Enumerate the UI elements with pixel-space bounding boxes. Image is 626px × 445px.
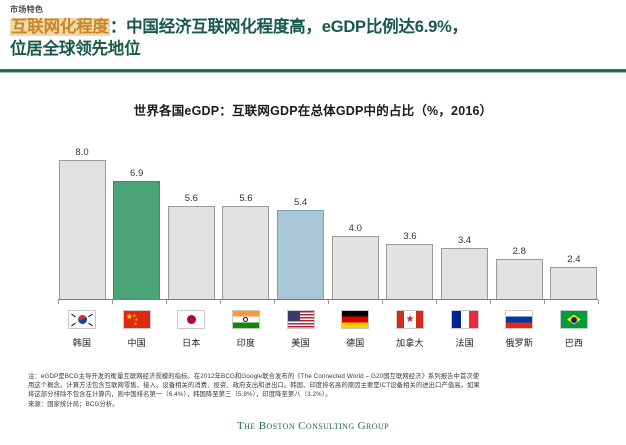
bar-slot-ca: 3.6 xyxy=(386,136,434,299)
in-chakra xyxy=(243,317,248,322)
ca-maple-leaf: ★ xyxy=(405,315,414,325)
axis-tick xyxy=(274,300,275,304)
x-axis-ticks xyxy=(58,300,598,304)
bar-value-label: 5.6 xyxy=(239,193,252,204)
headline-rest: ：中国经济互联网化程度高，eGDP比例达6.9%， xyxy=(110,18,468,36)
eyebrow-label: 市场特色 xyxy=(10,4,616,15)
bar-value-label: 2.4 xyxy=(567,254,580,265)
category-label: 法国 xyxy=(455,336,473,349)
category-ru: 俄罗斯 xyxy=(495,310,543,360)
category-label: 中国 xyxy=(127,336,145,349)
bar-slot-cn: 6.9 xyxy=(113,136,161,299)
axis-tick xyxy=(436,300,437,304)
flag-br-icon xyxy=(560,310,588,329)
category-label: 巴西 xyxy=(565,336,583,349)
footnote: 注：eGDP是BCG主导开发的衡量互联网经济规模的指标。在2012年BCG和Go… xyxy=(28,372,604,409)
category-us: 美国 xyxy=(277,310,325,360)
cn-small-star: ★ xyxy=(134,320,138,327)
footnote-line-1: 注：eGDP是BCG主导开发的衡量互联网经济规模的指标。在2012年BCG和Go… xyxy=(28,372,604,381)
category-label: 印度 xyxy=(237,336,255,349)
category-label: 韩国 xyxy=(73,336,91,349)
bar-cn xyxy=(113,181,160,299)
flag-jp-icon xyxy=(177,310,205,329)
flag-kr-icon xyxy=(68,310,96,329)
flag-fr-icon xyxy=(451,310,479,329)
category-fr: 法国 xyxy=(441,310,489,360)
bar-in xyxy=(222,206,269,299)
kr-trigram xyxy=(71,323,76,327)
flag-cn-icon: ★★★★ xyxy=(123,310,151,329)
category-in: 印度 xyxy=(222,310,270,360)
category-label: 俄罗斯 xyxy=(505,336,533,349)
bar-slot-de: 4.0 xyxy=(331,136,379,299)
footnote-line-3: 将这部分排除不包含在计算内，则中国排名第一（6.4%），韩国降至第三（5.8%）… xyxy=(28,390,604,399)
bar-slot-ru: 2.8 xyxy=(495,136,543,299)
axis-tick xyxy=(112,300,113,304)
slide-header: 市场特色 互联网化程度：中国经济互联网化程度高，eGDP比例达6.9%， 位居全… xyxy=(0,0,626,70)
page-title: 互联网化程度：中国经济互联网化程度高，eGDP比例达6.9%， 位居全球领先地位 xyxy=(10,16,616,60)
bcg-logo: The Boston Consulting Group xyxy=(0,420,626,432)
bar-de xyxy=(332,236,379,299)
header-divider xyxy=(0,69,626,73)
category-label: 加拿大 xyxy=(396,336,424,349)
flag-us-icon xyxy=(287,310,315,329)
flag-de-icon xyxy=(341,310,369,329)
kr-trigram xyxy=(88,314,93,318)
bar-series: 8.06.95.65.65.44.03.63.42.82.4 xyxy=(58,136,598,299)
axis-tick xyxy=(544,300,545,304)
bar-value-label: 8.0 xyxy=(75,147,88,158)
chart-title: 世界各国eGDP：互联网GDP在总体GDP中的占比（%，2016） xyxy=(0,100,626,119)
kr-trigram xyxy=(71,314,76,318)
category-br: 巴西 xyxy=(550,310,598,360)
axis-tick xyxy=(166,300,167,304)
category-label: 德国 xyxy=(346,336,364,349)
category-axis: 韩国★★★★中国日本印度美国德国★加拿大法国俄罗斯巴西 xyxy=(58,310,598,360)
bar-value-label: 4.0 xyxy=(349,223,362,234)
axis-tick xyxy=(382,300,383,304)
bar-slot-br: 2.4 xyxy=(550,136,598,299)
jp-sun-disc xyxy=(187,315,196,324)
flag-ru-icon xyxy=(505,310,533,329)
axis-tick xyxy=(58,300,59,304)
slide-canvas: 市场特色 互联网化程度：中国经济互联网化程度高，eGDP比例达6.9%， 位居全… xyxy=(0,0,626,445)
ca-left-band xyxy=(397,311,404,328)
flag-in-icon xyxy=(232,310,260,329)
chart-plot-area: 8.06.95.65.65.44.03.63.42.82.4 xyxy=(58,136,598,299)
headline-line2: 位居全球领先地位 xyxy=(10,40,140,58)
category-cn: ★★★★中国 xyxy=(113,310,161,360)
category-ca: ★加拿大 xyxy=(386,310,434,360)
bar-slot-us: 5.4 xyxy=(277,136,325,299)
category-label: 日本 xyxy=(182,336,200,349)
category-label: 美国 xyxy=(291,336,309,349)
axis-tick xyxy=(598,300,599,304)
bar-slot-fr: 3.4 xyxy=(441,136,489,299)
bar-value-label: 3.6 xyxy=(403,231,416,242)
us-canton xyxy=(288,311,300,321)
bar-br xyxy=(550,267,597,299)
fr-blue-band xyxy=(452,311,461,328)
category-kr: 韩国 xyxy=(58,310,106,360)
bar-value-label: 2.8 xyxy=(513,246,526,257)
bar-value-label: 3.4 xyxy=(458,235,471,246)
bar-slot-jp: 5.6 xyxy=(167,136,215,299)
br-globe xyxy=(571,317,577,323)
footnote-line-4: 来源：国家统计局；BCG分析。 xyxy=(28,400,604,409)
bar-fr xyxy=(441,248,488,299)
axis-tick xyxy=(220,300,221,304)
bar-value-label: 6.9 xyxy=(130,168,143,179)
ca-right-band xyxy=(416,311,423,328)
bar-jp xyxy=(168,206,215,299)
bar-ca xyxy=(386,244,433,299)
axis-tick xyxy=(490,300,491,304)
bar-ru xyxy=(496,259,543,299)
bar-value-label: 5.6 xyxy=(185,193,198,204)
bar-kr xyxy=(59,160,106,299)
category-de: 德国 xyxy=(331,310,379,360)
fr-red-band xyxy=(469,311,478,328)
category-jp: 日本 xyxy=(167,310,215,360)
headline-highlight: 互联网化程度 xyxy=(10,18,110,36)
kr-taegeuk xyxy=(78,315,87,324)
flag-ca-icon: ★ xyxy=(396,310,424,329)
bar-value-label: 5.4 xyxy=(294,197,307,208)
bar-slot-kr: 8.0 xyxy=(58,136,106,299)
axis-tick xyxy=(328,300,329,304)
bar-us xyxy=(277,210,324,299)
bar-slot-in: 5.6 xyxy=(222,136,270,299)
footnote-line-2: 用这个概念。计算方法包含互联网零售、接入、设备相关的消费、投资、政府支出和进出口… xyxy=(28,381,604,390)
kr-trigram xyxy=(88,323,93,327)
